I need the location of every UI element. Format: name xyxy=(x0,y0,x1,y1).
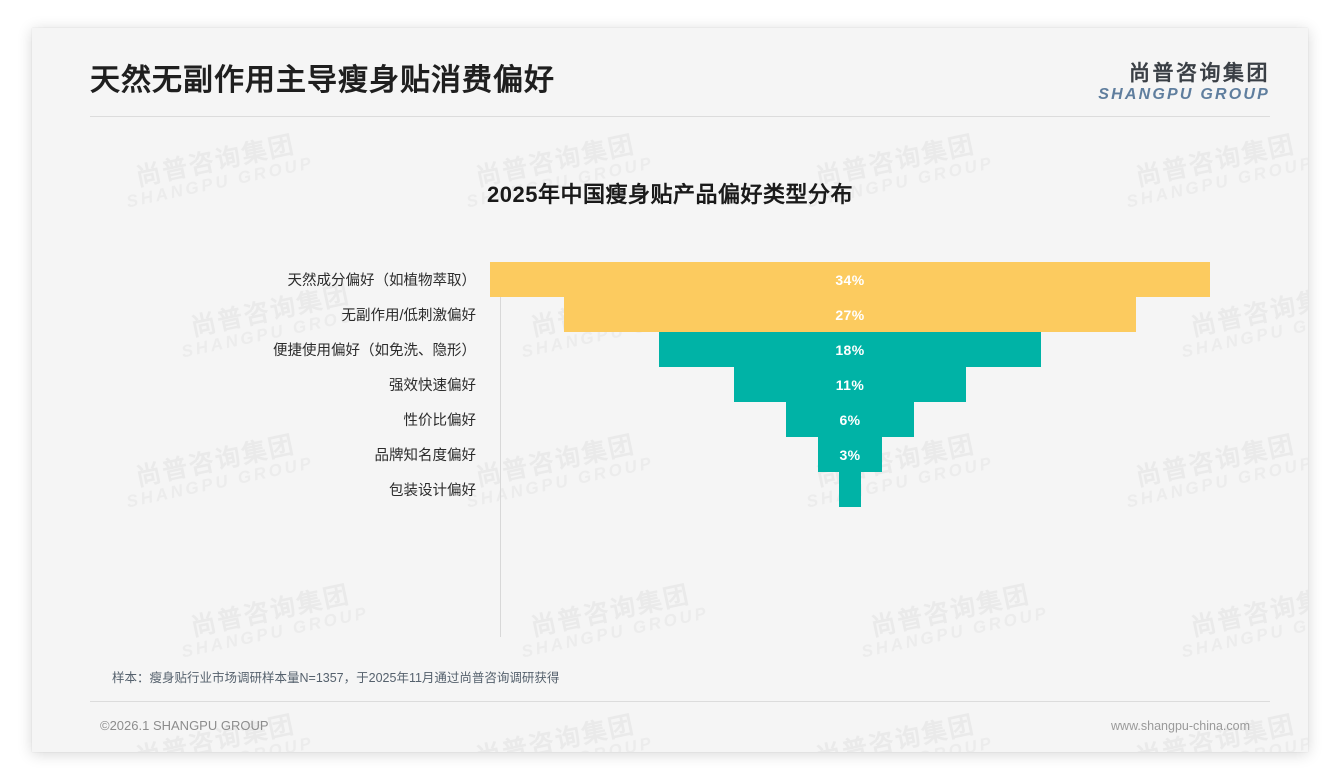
funnel-bar[interactable]: 18% xyxy=(659,332,1040,367)
funnel-row-label: 包装设计偏好 xyxy=(100,479,490,500)
funnel-bar-track: 11% xyxy=(490,367,1220,402)
funnel-row[interactable]: 无副作用/低刺激偏好27% xyxy=(100,297,1220,332)
funnel-bar-value: 6% xyxy=(839,412,860,428)
funnel-bar[interactable]: 34% xyxy=(490,262,1210,297)
brand-logo-cn: 尚普咨询集团 xyxy=(1098,62,1270,86)
funnel-row-label: 强效快速偏好 xyxy=(100,374,490,395)
funnel-bar[interactable]: 3% xyxy=(818,437,882,472)
funnel-bar-track: 27% xyxy=(490,297,1220,332)
funnel-bar-track: 3% xyxy=(490,437,1220,472)
website-link[interactable]: www.shangpu-china.com xyxy=(1111,719,1250,733)
funnel-row[interactable]: 天然成分偏好（如植物萃取）34% xyxy=(100,262,1220,297)
funnel-bar-value: 11% xyxy=(836,377,864,393)
funnel-row[interactable]: 品牌知名度偏好3% xyxy=(100,437,1220,472)
chart-title: 2025年中国瘦身贴产品偏好类型分布 xyxy=(32,177,1308,209)
sample-note: 样本：瘦身贴行业市场调研样本量N=1357，于2025年11月通过尚普咨询调研获… xyxy=(112,667,559,686)
funnel-bar[interactable]: 6% xyxy=(786,402,913,437)
funnel-chart: 天然成分偏好（如植物萃取）34%无副作用/低刺激偏好27%便捷使用偏好（如免洗、… xyxy=(100,257,1220,657)
footnote-block: 样本：瘦身贴行业市场调研样本量N=1357，于2025年11月通过尚普咨询调研获… xyxy=(32,658,1308,702)
funnel-bar-value: 18% xyxy=(835,342,864,358)
funnel-row-label: 性价比偏好 xyxy=(100,409,490,430)
funnel-bar-track: 6% xyxy=(490,402,1220,437)
funnel-bar-value: 34% xyxy=(835,272,864,288)
funnel-bar-value: 27% xyxy=(835,307,864,323)
funnel-row[interactable]: 强效快速偏好11% xyxy=(100,367,1220,402)
funnel-bar-track: 34% xyxy=(490,262,1220,297)
brand-logo: 尚普咨询集团 SHANGPU GROUP xyxy=(1098,62,1270,105)
funnel-bar[interactable] xyxy=(839,472,860,507)
slide-footer: ©2026.1 SHANGPU GROUP www.shangpu-china.… xyxy=(32,702,1308,752)
funnel-row[interactable]: 便捷使用偏好（如免洗、隐形）18% xyxy=(100,332,1220,367)
funnel-row-label: 品牌知名度偏好 xyxy=(100,444,490,465)
funnel-row-label: 无副作用/低刺激偏好 xyxy=(100,304,490,325)
slide-header: 天然无副作用主导瘦身贴消费偏好 尚普咨询集团 SHANGPU GROUP xyxy=(32,28,1308,124)
copyright-text: ©2026.1 SHANGPU GROUP xyxy=(100,718,269,733)
brand-logo-en: SHANGPU GROUP xyxy=(1098,86,1270,104)
funnel-bar-value: 3% xyxy=(839,447,860,463)
funnel-row[interactable]: 包装设计偏好 xyxy=(100,472,1220,507)
page-title: 天然无副作用主导瘦身贴消费偏好 xyxy=(90,55,555,99)
funnel-bar[interactable]: 27% xyxy=(564,297,1136,332)
slide-card: 尚普咨询集团SHANGPU GROUP尚普咨询集团SHANGPU GROUP尚普… xyxy=(32,28,1308,752)
funnel-bar[interactable]: 11% xyxy=(734,367,967,402)
header-divider xyxy=(90,116,1270,117)
funnel-bar-track xyxy=(490,472,1220,507)
chart-region: 2025年中国瘦身贴产品偏好类型分布 天然成分偏好（如植物萃取）34%无副作用/… xyxy=(32,124,1308,684)
funnel-bar-track: 18% xyxy=(490,332,1220,367)
funnel-row-label: 天然成分偏好（如植物萃取） xyxy=(100,269,490,290)
funnel-row[interactable]: 性价比偏好6% xyxy=(100,402,1220,437)
funnel-row-label: 便捷使用偏好（如免洗、隐形） xyxy=(100,339,490,360)
